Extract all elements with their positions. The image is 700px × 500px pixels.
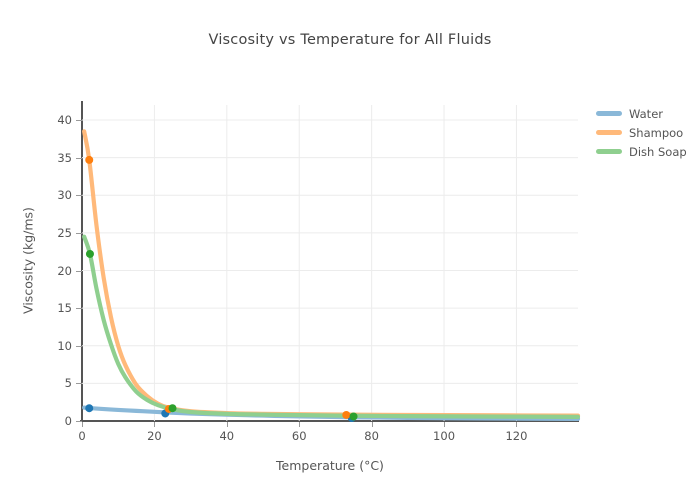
data-point-dish-soap [169, 404, 177, 412]
y-tick-label: 40 [26, 113, 72, 127]
x-tick-mark [299, 422, 300, 427]
data-point-shampoo [85, 156, 93, 164]
data-point-shampoo [342, 411, 350, 419]
chart-legend: WaterShampooDish Soap [596, 104, 696, 161]
x-axis-title: Temperature (°C) [0, 458, 660, 473]
x-tick-label: 100 [433, 429, 455, 443]
x-tick-mark [154, 422, 155, 427]
legend-swatch-icon [596, 130, 622, 135]
chart-title: Viscosity vs Temperature for All Fluids [0, 32, 700, 48]
legend-item[interactable]: Shampoo [596, 123, 696, 142]
series-line-shampoo [84, 131, 578, 415]
x-tick-mark [227, 422, 228, 427]
x-tick-label: 120 [505, 429, 527, 443]
chart-figure: Viscosity vs Temperature for All Fluids … [0, 0, 700, 500]
x-tick-label: 80 [364, 429, 379, 443]
data-point-dish-soap [350, 412, 358, 420]
plot-svg [82, 105, 578, 421]
x-tick-mark [82, 422, 83, 427]
series-line-dish-soap [84, 237, 578, 417]
legend-swatch-icon [596, 149, 622, 154]
legend-label: Dish Soap [629, 145, 687, 159]
legend-item[interactable]: Dish Soap [596, 142, 696, 161]
x-tick-label: 0 [78, 429, 85, 443]
legend-label: Shampoo [629, 126, 683, 140]
x-tick-label: 60 [292, 429, 307, 443]
x-tick-label: 20 [147, 429, 162, 443]
plot-area [82, 105, 578, 421]
y-axis-title: Viscosity (kg/ms) [21, 141, 36, 381]
x-tick-mark [372, 422, 373, 427]
data-point-water [85, 404, 93, 412]
y-tick-label: 0 [26, 414, 72, 428]
legend-label: Water [629, 107, 663, 121]
x-tick-mark [516, 422, 517, 427]
legend-item[interactable]: Water [596, 104, 696, 123]
x-tick-label: 40 [219, 429, 234, 443]
legend-swatch-icon [596, 111, 622, 116]
x-tick-mark [444, 422, 445, 427]
data-point-dish-soap [86, 250, 94, 258]
